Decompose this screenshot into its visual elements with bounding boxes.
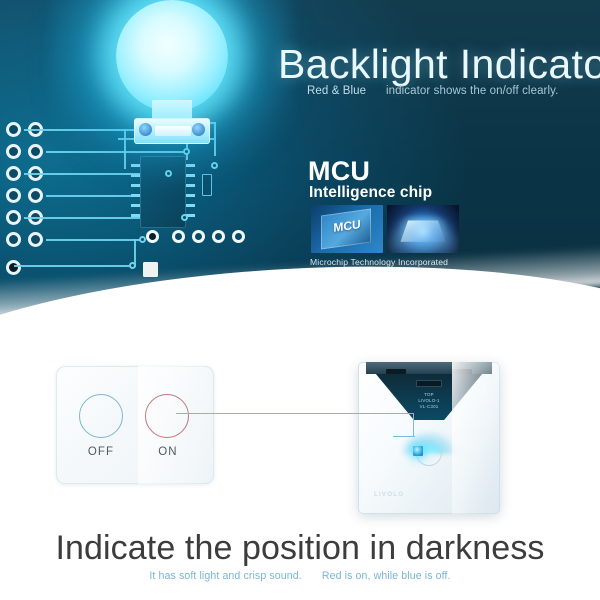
pcb-pad: [6, 232, 21, 247]
pcb-pad: [6, 166, 21, 181]
pcb-pad: [6, 188, 21, 203]
product-banner: Backlight Indicator Red & Blue indicator…: [0, 0, 600, 600]
bulb-globe: [116, 0, 228, 112]
page-title: Backlight Indicator: [278, 41, 600, 88]
pcb-node: [181, 214, 188, 221]
glowing-bulb-icon: [96, 0, 246, 155]
pcb-via: [146, 230, 159, 243]
switch-glass-sheen: [452, 362, 500, 514]
pcb-pad: [6, 210, 21, 225]
pcb-trace: [46, 239, 142, 241]
callout-line-horizontal: [176, 413, 414, 414]
off-label: OFF: [75, 446, 127, 458]
pcb-via: [172, 230, 185, 243]
on-label: ON: [142, 446, 194, 458]
callout-line-vertical: [413, 413, 414, 437]
mcu-chip-label: MCU: [311, 214, 383, 238]
footer-subtext: It has soft light and crisp sound. Red i…: [0, 570, 600, 582]
mcu-wafer-photo: [387, 205, 459, 253]
switch-brand-logo: LIVOLO: [374, 491, 404, 498]
switch-connector: [416, 380, 442, 387]
subtitle-rest: indicator shows the on/off clearly.: [386, 85, 558, 97]
pcb-node: [139, 236, 146, 243]
pcb-pad: [6, 122, 21, 137]
switch-led-indicator: [413, 446, 423, 456]
mcu-subtitle: Intelligence chip: [309, 184, 432, 202]
pcb-pad-filled: [6, 260, 21, 275]
pcb-via: [212, 230, 225, 243]
product-switch: TOP LIVOLO-1 VL-C301 LIVOLO: [358, 362, 500, 514]
pcb-via: [192, 230, 205, 243]
callout-line-tail: [393, 436, 415, 437]
footer-sub-b: Red is on, while blue is off.: [322, 570, 451, 582]
switch-notch: [386, 369, 406, 374]
pcb-pad: [6, 144, 21, 159]
footer-sub-a: It has soft light and crisp sound.: [149, 570, 301, 582]
pcb-pad: [28, 232, 43, 247]
switch-diagram-panel: OFF ON: [56, 366, 214, 484]
footer-headline: Indicate the position in darkness: [0, 529, 600, 568]
mcu-chip-photo: MCU: [311, 205, 383, 253]
pcb-pad: [28, 188, 43, 203]
bulb-base: [134, 118, 210, 144]
pcb-trace: [14, 265, 134, 267]
pcb-via: [232, 230, 245, 243]
mcu-chip-images: MCU: [311, 205, 459, 253]
pcb-pad: [28, 144, 43, 159]
off-indicator-circle: [79, 394, 123, 438]
mcu-title: MCU: [308, 156, 370, 187]
on-indicator-circle: [145, 394, 189, 438]
page-subtitle: Red & Blue indicator shows the on/off cl…: [307, 85, 558, 97]
pcb-node: [129, 262, 136, 269]
subtitle-highlight: Red & Blue: [307, 85, 366, 97]
